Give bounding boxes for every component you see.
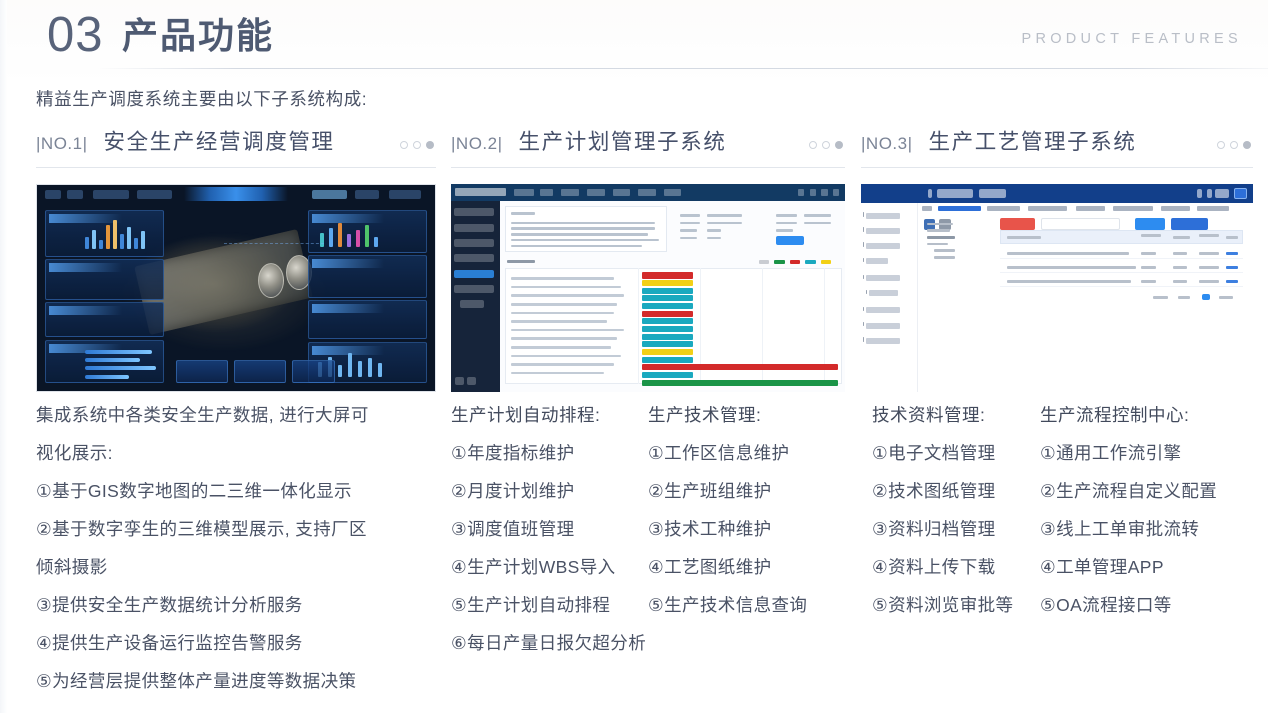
filter-card-title [511, 212, 535, 215]
legend-swatch-1 [759, 260, 769, 264]
topbar-right-icon-1[interactable] [1197, 189, 1202, 197]
nav-chip-2[interactable] [67, 190, 83, 199]
desc-1-line-5: 倾斜摄影 [36, 548, 440, 586]
gantt-bar-9[interactable] [642, 334, 694, 340]
panel-equipment-table [45, 302, 164, 337]
filter-line-3 [511, 233, 649, 236]
nav-chip-6[interactable] [355, 190, 379, 199]
row-3-date [1199, 280, 1218, 283]
column-title-3: 生产工艺管理子系统 [929, 128, 1137, 156]
pager-dot-2[interactable] [822, 141, 830, 149]
desc-2a-item-3: ③调度值班管理 [451, 510, 647, 548]
header-cell-date [1199, 234, 1218, 237]
desc-1-line-7: ④提供生产设备运行监控告警服务 [36, 624, 440, 662]
column-header-1: |NO.1| 安全生产经营调度管理 [36, 128, 436, 168]
bar-chart-left-top [85, 218, 145, 249]
desc-3b-item-3: ③线上工单审批流转 [1040, 510, 1258, 548]
pager-dot-3-active[interactable] [426, 141, 434, 149]
toolbar-item-5[interactable] [613, 189, 631, 196]
header-cell-size [1141, 234, 1160, 237]
sidebar-icon-2 [863, 227, 864, 232]
topbar-tab-2[interactable] [979, 189, 1006, 197]
gantt-app-canvas [451, 184, 845, 392]
desc-1-line-1: 集成系统中各类安全生产数据, 进行大屏可 [36, 396, 440, 434]
tab-5[interactable] [1076, 206, 1105, 211]
gantt-table-row-10 [511, 355, 621, 358]
left-edge-strip [0, 0, 7, 713]
filter-line-5 [511, 245, 642, 248]
progress-bar-4 [85, 375, 129, 379]
tab-8[interactable] [1197, 206, 1230, 211]
toolbar-item-right-4[interactable] [833, 189, 839, 196]
pager-dots-3[interactable] [1217, 141, 1251, 149]
gantt-gridline-1 [638, 268, 639, 385]
row-1-date [1199, 252, 1218, 255]
field-value-5 [804, 214, 832, 217]
field-label-2 [680, 222, 701, 225]
desc-3a-title: 技术资料管理: [872, 396, 1038, 434]
desc-2a-item-5: ⑤生产计划自动排程 [451, 586, 647, 624]
section-subtitle-en: PRODUCT FEATURES [1021, 31, 1242, 47]
pager-dots-2[interactable] [809, 141, 843, 149]
row-1-size [1141, 252, 1156, 255]
kpi-card-2 [234, 360, 286, 383]
sidebar-item-3[interactable] [454, 239, 493, 247]
gantt-bar-14[interactable] [642, 372, 694, 378]
desc-3b-title: 生产流程控制中心: [1040, 396, 1258, 434]
nav-chip-3[interactable] [93, 190, 129, 199]
search-button[interactable] [1135, 218, 1164, 229]
toolbar-item-6[interactable] [638, 189, 656, 196]
category-filter-chip[interactable] [1000, 218, 1035, 229]
nav-chip-5[interactable] [312, 190, 348, 199]
row-3-action [1226, 280, 1238, 283]
pager-dot-3-active[interactable] [835, 141, 843, 149]
tab-6[interactable] [1113, 206, 1152, 211]
description-column-3a: 技术资料管理: ①电子文档管理 ②技术图纸管理 ③资料归档管理 ④资料上传下载 … [872, 396, 1038, 624]
tab-4[interactable] [1028, 206, 1067, 211]
field-label-1 [680, 214, 701, 217]
column-header-3: |NO.3| 生产工艺管理子系统 [861, 128, 1253, 168]
gantt-app-logo [455, 188, 506, 196]
desc-1-line-4: ②基于数字孪生的三维模型展示, 支持厂区 [36, 510, 440, 548]
gantt-table-row-3 [511, 294, 625, 297]
topbar-menu-icon[interactable] [928, 189, 933, 197]
sidebar-footer-btn-2[interactable] [467, 377, 476, 385]
desc-3b-item-5: ⑤OA流程接口等 [1040, 586, 1258, 624]
gantt-sidebar [451, 201, 500, 392]
toolbar-item-7[interactable] [664, 189, 682, 196]
tree-node-5[interactable] [934, 249, 955, 252]
desc-2a-item-6: ⑥每日产量日报欠超分析 [451, 624, 647, 662]
sidebar-icon-7 [863, 307, 864, 312]
field-value-2 [707, 222, 741, 225]
sidebar-item-4[interactable] [866, 258, 888, 264]
field-label-6 [776, 222, 797, 225]
query-button[interactable] [776, 236, 804, 245]
toolbar-item-right-1[interactable] [798, 189, 804, 196]
panel-alarm-table [308, 300, 427, 339]
gantt-bar-7[interactable] [642, 318, 694, 324]
desc-2a-item-1: ①年度指标维护 [451, 434, 647, 472]
sidebar-item-2[interactable] [454, 224, 493, 232]
row-1-uploader [1173, 252, 1188, 255]
upload-button[interactable] [1171, 218, 1208, 229]
topbar-user-label[interactable] [1215, 189, 1229, 197]
gantt-bar-12[interactable] [642, 357, 694, 363]
pagination-total [1153, 296, 1168, 299]
tree-node-6[interactable] [934, 256, 955, 259]
row-1-name [1007, 252, 1129, 255]
description-column-3b: 生产流程控制中心: ①通用工作流引擎 ②生产流程自定义配置 ③线上工单审批流转 … [1040, 396, 1258, 624]
sidebar-item-3[interactable] [866, 243, 899, 249]
page-title: 产品功能 [122, 13, 274, 59]
gantt-table-row-6 [511, 320, 608, 323]
row-2-uploader [1173, 266, 1188, 269]
save-icon-button[interactable] [1234, 188, 1247, 200]
toolbar-item-2[interactable] [540, 189, 554, 196]
gantt-body [500, 201, 845, 392]
sidebar-item-7[interactable] [460, 300, 485, 308]
filter-line-1 [511, 222, 656, 225]
feature-column-2: |NO.2| 生产计划管理子系统 [451, 128, 845, 392]
desc-2b-item-5: ⑤生产技术信息查询 [648, 586, 858, 624]
sidebar-icon-4 [863, 258, 864, 263]
doc-tab-bar [922, 204, 1249, 214]
nav-chip-4[interactable] [137, 190, 173, 199]
nav-chip-1[interactable] [45, 190, 61, 199]
sidebar-item-6[interactable] [866, 307, 899, 313]
toolbar-item-3[interactable] [561, 189, 579, 196]
desc-3a-item-5: ⑤资料浏览审批等 [872, 586, 1038, 624]
progress-bar-2 [85, 358, 141, 362]
desc-3a-item-4: ④资料上传下载 [872, 548, 1038, 586]
desc-2b-title: 生产技术管理: [648, 396, 858, 434]
gantt-bar-8[interactable] [642, 326, 694, 332]
legend-swatch-2 [774, 260, 784, 264]
tree-node-3-selected[interactable] [927, 236, 955, 239]
section-number: 03 [47, 8, 104, 62]
gantt-section-title [507, 260, 535, 263]
sidebar-subitem-1[interactable] [869, 290, 898, 296]
intro-text: 精益生产调度系统主要由以下子系统构成: [36, 86, 367, 112]
description-column-2b: 生产技术管理: ①工作区信息维护 ②生产班组维护 ③技术工种维护 ④工艺图纸维护… [648, 396, 858, 624]
topbar-right-icon-2[interactable] [1207, 189, 1212, 197]
gantt-bar-10[interactable] [642, 341, 694, 347]
toolbar-item-right-3[interactable] [821, 189, 827, 196]
search-input[interactable] [1041, 218, 1119, 229]
header-divider [96, 68, 1268, 69]
gantt-bar-6[interactable] [642, 311, 694, 317]
sidebar-item-2[interactable] [866, 228, 899, 234]
desc-3a-item-2: ②技术图纸管理 [872, 472, 1038, 510]
desc-1-line-2: 视化展示: [36, 434, 440, 472]
sidebar-item-4[interactable] [454, 254, 493, 262]
field-value-6 [804, 222, 832, 225]
sidebar-icon-6 [866, 290, 867, 295]
desc-1-line-6: ③提供安全生产数据统计分析服务 [36, 586, 440, 624]
toolbar-item-1[interactable] [514, 189, 534, 196]
field-label-7 [776, 229, 793, 232]
sidebar-item-5-active[interactable] [454, 270, 493, 278]
field-value-3 [707, 229, 721, 232]
progress-bar-3 [85, 366, 157, 370]
desc-2b-item-2: ②生产班组维护 [648, 472, 858, 510]
desc-1-line-8: ⑤为经营层提供整体产量进度等数据决策 [36, 662, 440, 700]
gantt-bar-15-long-green[interactable] [642, 380, 839, 386]
desc-3a-item-1: ①电子文档管理 [872, 434, 1038, 472]
pager-dots-1[interactable] [400, 141, 434, 149]
sidebar-icon-8 [863, 322, 864, 327]
gantt-table-row-1 [511, 277, 614, 280]
gantt-bar-4[interactable] [642, 295, 694, 301]
field-label-5 [776, 214, 797, 217]
column-title-2: 生产计划管理子系统 [519, 128, 727, 156]
column-number-tag-3: |NO.3| [861, 128, 913, 156]
sidebar-item-7[interactable] [866, 323, 899, 329]
tree-node-1[interactable] [927, 223, 952, 226]
column-number-tag-1: |NO.1| [36, 128, 88, 156]
gantt-table-row-11 [511, 363, 614, 366]
column-title-1: 安全生产经营调度管理 [104, 128, 335, 156]
column-header-2: |NO.2| 生产计划管理子系统 [451, 128, 845, 168]
dashboard-title-banner [184, 187, 287, 200]
gantt-table-row-2 [511, 286, 621, 289]
legend-swatch-4 [805, 260, 815, 264]
screenshot-dispatch-dashboard [36, 184, 436, 392]
header-cell-uploader [1173, 236, 1190, 239]
sidebar-item-1[interactable] [454, 208, 493, 216]
sidebar-icon-9 [863, 337, 864, 342]
doc-app-canvas [861, 184, 1253, 392]
sidebar-icon-1 [863, 212, 864, 217]
slide-page: 03 产品功能 PRODUCT FEATURES 精益生产调度系统主要由以下子系… [0, 0, 1268, 713]
desc-2b-item-4: ④工艺图纸维护 [648, 548, 858, 586]
desc-2b-item-3: ③技术工种维护 [648, 510, 858, 548]
pager-dot-2[interactable] [1230, 141, 1238, 149]
sidebar-item-5[interactable] [866, 275, 899, 281]
header-cell-action [1226, 236, 1238, 239]
pager-dot-1[interactable] [1217, 141, 1225, 149]
topbar-tab-1[interactable] [937, 189, 972, 197]
gantt-bar-5[interactable] [642, 303, 694, 309]
bar-chart-right-top [320, 220, 378, 247]
panel-staff-stats [45, 259, 164, 300]
desc-2a-title: 生产计划自动排程: [451, 396, 647, 434]
legend-swatch-3 [790, 260, 800, 264]
description-column-2a: 生产计划自动排程: ①年度指标维护 ②月度计划维护 ③调度值班管理 ④生产计划W… [451, 396, 647, 662]
tree-node-4[interactable] [927, 243, 947, 246]
tab-active[interactable] [938, 206, 981, 211]
screenshot-plan-gantt [451, 184, 845, 392]
storage-tank-a [258, 263, 284, 298]
doc-sidebar [861, 203, 918, 392]
header-cell-name [1007, 236, 1041, 239]
sidebar-item-6[interactable] [454, 285, 493, 293]
gantt-bar-11[interactable] [642, 349, 694, 355]
doc-data-table [1000, 230, 1243, 317]
kpi-card-1 [176, 360, 228, 383]
pager-dot-2[interactable] [413, 141, 421, 149]
field-value-1 [707, 214, 741, 217]
row-2-name [1007, 266, 1136, 269]
desc-2a-item-4: ④生产计划WBS导入 [451, 548, 647, 586]
nav-chip-7[interactable] [389, 190, 421, 199]
slide-header: 03 产品功能 PRODUCT FEATURES [0, 0, 1268, 69]
gantt-bar-1[interactable] [642, 272, 694, 278]
feature-column-1: |NO.1| 安全生产经营调度管理 [36, 128, 436, 392]
folder-tree [924, 219, 987, 261]
pagination-goto [1219, 296, 1234, 299]
desc-3b-item-2: ②生产流程自定义配置 [1040, 472, 1258, 510]
gantt-table-row-4 [511, 303, 618, 306]
callout-line [224, 243, 324, 244]
field-value-4 [707, 237, 721, 240]
doc-topbar [861, 184, 1253, 203]
desc-2b-item-1: ①工作区信息维护 [648, 434, 858, 472]
row-2-date [1199, 266, 1218, 269]
sidebar-icon-3 [863, 242, 864, 247]
kpi-card-3 [292, 360, 336, 383]
desc-3b-item-4: ④工单管理APP [1040, 548, 1258, 586]
sidebar-item-doc-manage[interactable] [866, 213, 899, 219]
row-1-action [1226, 252, 1238, 255]
row-3-name [1007, 280, 1131, 283]
desc-1-line-3: ①基于GIS数字地图的二三维一体化显示 [36, 472, 440, 510]
gantt-table-row-8 [511, 337, 618, 340]
gantt-table-row-9 [511, 346, 611, 349]
desc-3a-item-3: ③资料归档管理 [872, 510, 1038, 548]
legend-swatch-5 [821, 260, 831, 264]
sidebar-footer-btn-1[interactable] [455, 377, 464, 385]
panel-trend-chart [308, 255, 427, 298]
tab-3[interactable] [987, 206, 1020, 211]
gantt-bar-13-long-red[interactable] [642, 364, 839, 370]
column-number-tag-2: |NO.2| [451, 128, 503, 156]
pager-dot-1[interactable] [400, 141, 408, 149]
dashboard-canvas [37, 185, 435, 391]
filter-line-2 [511, 227, 656, 230]
field-label-3 [680, 229, 697, 232]
desc-3b-item-1: ①通用工作流引擎 [1040, 434, 1258, 472]
pager-dot-1[interactable] [809, 141, 817, 149]
row-2-size [1141, 266, 1156, 269]
progress-bar-1 [85, 350, 153, 354]
description-column-1: 集成系统中各类安全生产数据, 进行大屏可 视化展示: ①基于GIS数字地图的二三… [36, 396, 440, 700]
toolbar-item-4[interactable] [587, 189, 605, 196]
tree-node-2[interactable] [927, 229, 950, 232]
gantt-table-row-5 [511, 312, 614, 315]
sidebar-item-8[interactable] [866, 338, 899, 344]
gantt-bar-2[interactable] [642, 280, 694, 286]
pagination-page-1-active[interactable] [1202, 294, 1210, 300]
sidebar-icon-5 [863, 275, 864, 280]
toolbar-item-right-2[interactable] [810, 189, 816, 196]
feature-column-3: |NO.3| 生产工艺管理子系统 [861, 128, 1253, 392]
gantt-bar-3[interactable] [642, 288, 694, 294]
desc-2a-item-2: ②月度计划维护 [451, 472, 647, 510]
row-3-size [1141, 280, 1156, 283]
row-3-uploader [1173, 280, 1188, 283]
row-2-action [1226, 266, 1238, 269]
pager-dot-3-active[interactable] [1243, 141, 1251, 149]
field-label-4 [680, 237, 697, 240]
screenshot-doc-management [861, 184, 1253, 392]
tab-7[interactable] [1161, 206, 1190, 211]
pagination-pagesize [1178, 296, 1190, 299]
tab-home[interactable] [922, 206, 932, 211]
